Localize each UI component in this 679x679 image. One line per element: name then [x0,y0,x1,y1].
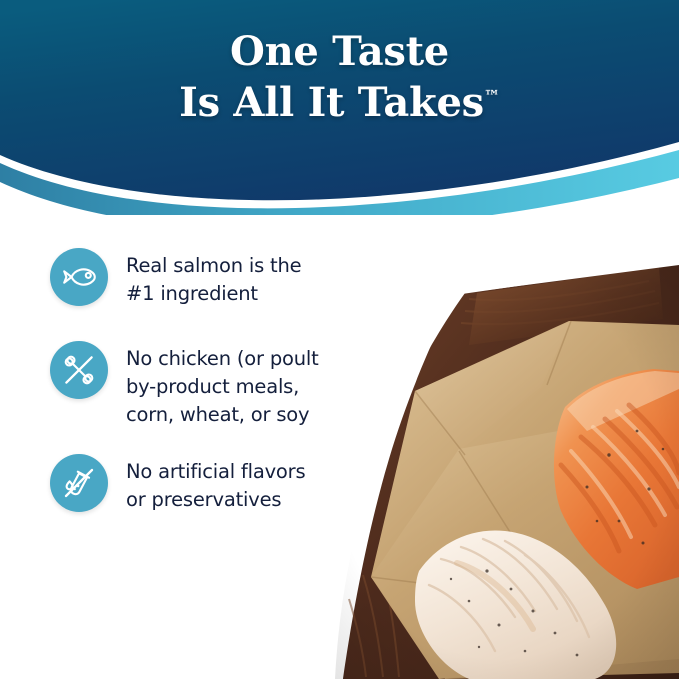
no-bone-icon [58,349,100,391]
bullet-2-line-3: corn, wheat, or soy [126,401,345,429]
bullet-2-line-2: by-product meals, [126,373,345,401]
feature-bullet-1-text: Real salmon is the #1 ingredient [126,248,301,307]
banner-background-shape [0,0,679,215]
food-photo [319,259,679,679]
banner-shape [0,0,679,200]
no-test-tube-icon-badge [50,454,108,512]
header-banner: One Taste Is All It Takes™ [0,0,679,215]
bullet-1-line-1: Real salmon is the [126,252,301,280]
bullet-2-line-1: No chicken (or poultry) [126,345,345,373]
no-test-tube-icon [58,462,100,504]
food-photo-illustration [319,259,679,679]
feature-bullet-2-text: No chicken (or poultry) by-product meals… [126,341,345,428]
product-feature-banner: One Taste Is All It Takes™ Real salmon i… [0,0,679,679]
bullet-3-line-1: No artificial flavors [126,458,305,486]
feature-bullet-3-text: No artificial flavors or preservatives [126,454,305,513]
fish-icon-badge [50,248,108,306]
bullet-3-line-2: or preservatives [126,486,305,514]
fish-icon [59,257,99,297]
bullet-1-line-2: #1 ingredient [126,280,301,308]
no-bone-icon-badge [50,341,108,399]
